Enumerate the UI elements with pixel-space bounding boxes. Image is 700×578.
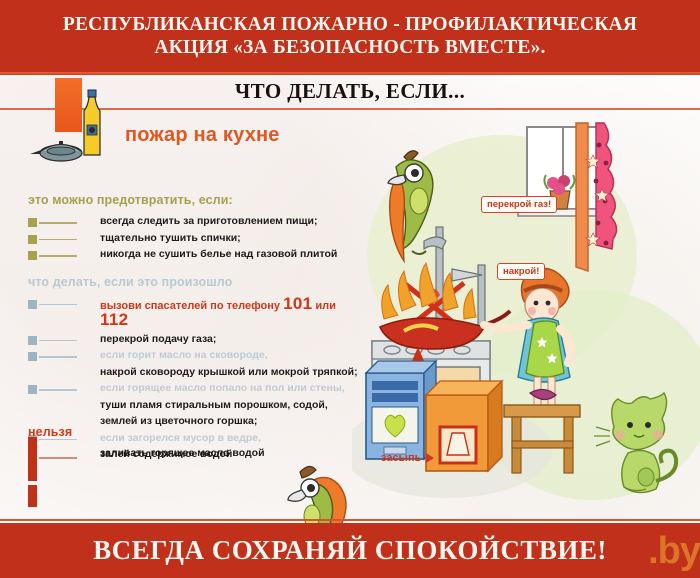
- forbidden-bullet-secondary: [28, 485, 37, 507]
- bullet-marker: [28, 218, 90, 227]
- list-item-label: никогда не сушить белье над газовой плит…: [100, 248, 337, 260]
- page-subtitle: ЧТО ДЕЛАТЬ, ЕСЛИ...: [0, 79, 700, 104]
- bullet-marker: [28, 235, 90, 244]
- list-item-label: если горит масло на сковороде,: [100, 349, 268, 361]
- header-title-line1: РЕСПУБЛИКАНСКАЯ ПОЖАРНО - ПРОФИЛАКТИЧЕСК…: [63, 14, 637, 35]
- list-item: перекрой подачу газа;: [28, 333, 358, 347]
- list-item-label: всегда следить за приготовлением пищи;: [100, 215, 317, 227]
- forbidden-section: нельзя заливать горящее масло водой: [28, 425, 358, 461]
- list-item: всегда следить за приготовлением пищи;: [28, 215, 358, 229]
- emergency-number-112: 112: [100, 310, 128, 329]
- poster-root: РЕСПУБЛИКАНСКАЯ ПОЖАРНО - ПРОФИЛАКТИЧЕСК…: [0, 0, 700, 578]
- oil-bottle-icon: [79, 89, 105, 157]
- bullet-marker: [28, 352, 90, 361]
- emergency-call-item: вызови спасателей по телефону 101 или 11…: [28, 297, 358, 330]
- emergency-number-101: 101: [283, 294, 312, 313]
- list-item: заливать горящее масло водой: [28, 447, 358, 461]
- header-title: РЕСПУБЛИКАНСКАЯ ПОЖАРНО - ПРОФИЛАКТИЧЕСК…: [49, 13, 651, 59]
- prevention-heading: это можно предотвратить, если:: [28, 193, 358, 207]
- left-content-column: это можно предотвратить, если: всегда сл…: [28, 193, 358, 465]
- list-item-label: накрой сковороду крышкой или мокрой тряп…: [100, 366, 358, 378]
- list-item-label: перекрой подачу газа;: [100, 333, 216, 345]
- orange-block-decor: [55, 78, 82, 132]
- prevention-list: всегда следить за приготовлением пищи; т…: [28, 215, 358, 262]
- right-arrow-icon: [426, 453, 434, 463]
- bullet-marker: [28, 336, 90, 345]
- pour-label-text: засыпь: [381, 452, 421, 464]
- bullet-marker: [28, 251, 90, 260]
- frying-pan-icon: [28, 132, 84, 164]
- list-item: туши пламя стиральным порошком, содой,: [28, 399, 358, 413]
- forbidden-list: заливать горящее масло водой: [28, 447, 358, 461]
- callout-label: перекрой газ!: [487, 199, 551, 210]
- callout-label: накрой!: [503, 266, 539, 277]
- callout-turn-off-gas: перекрой газ!: [481, 196, 557, 213]
- footer-banner: ВСЕГДА СОХРАНЯЙ СПОКОЙСТВИЕ!: [0, 523, 700, 578]
- list-item: тщательно тушить спички;: [28, 232, 358, 246]
- list-item-condition: если горящее масло попало на пол или сте…: [28, 382, 358, 396]
- list-item: накрой сковороду крышкой или мокрой тряп…: [28, 366, 358, 380]
- footer-divider: [0, 519, 700, 521]
- list-item: никогда не сушить белье над газовой плит…: [28, 248, 358, 262]
- list-item-label: туши пламя стиральным порошком, содой,: [100, 399, 328, 411]
- bullet-marker: [28, 385, 90, 394]
- emergency-conjunction: или: [315, 300, 336, 312]
- list-item-label: тщательно тушить спички;: [100, 232, 241, 244]
- list-item-label: заливать горящее масло водой: [100, 447, 265, 459]
- kitchen-section-title: пожар на кухне: [125, 124, 280, 147]
- pour-label: засыпь: [381, 452, 434, 464]
- soda-box-icon: [426, 381, 502, 471]
- header-title-line2: АКЦИЯ «ЗА БЕЗОПАСНОСТЬ ВМЕСТЕ».: [154, 37, 545, 58]
- bullet-marker: [28, 300, 90, 309]
- list-item-condition: если горит масло на сковороде,: [28, 349, 358, 363]
- footer-slogan: ВСЕГДА СОХРАНЯЙ СПОКОЙСТВИЕ!: [93, 535, 607, 566]
- list-item-label: если горящее масло попало на пол или сте…: [100, 382, 345, 394]
- actions-heading: что делать, если это произошло: [28, 275, 358, 289]
- header-banner: РЕСПУБЛИКАНСКАЯ ПОЖАРНО - ПРОФИЛАКТИЧЕСК…: [0, 0, 700, 72]
- callout-cover: накрой!: [497, 263, 545, 280]
- bullet-marker: [28, 437, 90, 481]
